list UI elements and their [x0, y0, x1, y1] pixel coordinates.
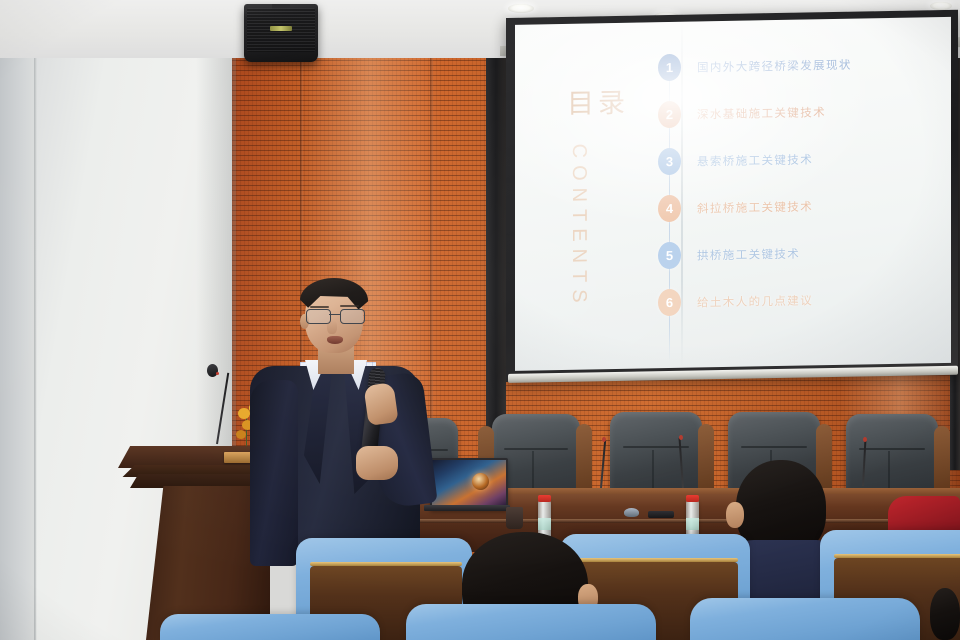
laptop-screen	[430, 458, 508, 510]
projection-screen: 目录 CONTENTS 1 国内外大跨径桥梁发展现状 2 深水基础施工关键技术 …	[506, 10, 958, 382]
screen-panel-seam	[681, 22, 683, 368]
toc-number-badge: 1	[658, 54, 681, 81]
list-item: 4 斜拉桥施工关键技术	[651, 180, 941, 232]
mobile-phone	[648, 511, 674, 518]
table-of-contents: 1 国内外大跨径桥梁发展现状 2 深水基础施工关键技术 3 悬索桥施工关键技术 …	[651, 39, 941, 326]
wall-column	[0, 0, 36, 640]
table-microphone-head	[863, 437, 867, 442]
presenter-mouth	[327, 336, 343, 344]
list-item: 1 国内外大跨径桥梁发展现状	[651, 39, 941, 91]
wall-speaker-icon	[244, 4, 318, 62]
toc-item-label: 深水基础施工关键技术	[697, 104, 826, 122]
dais-table-trim	[372, 519, 960, 523]
ceiling-downlight	[930, 2, 952, 10]
coffee-cup	[506, 507, 523, 529]
toc-number-badge: 2	[658, 101, 681, 128]
audience-head	[930, 588, 960, 640]
toc-item-label: 悬索桥施工关键技术	[697, 151, 813, 169]
presenter-hand-lower	[356, 446, 398, 480]
projection-screen-surface: 目录 CONTENTS 1 国内外大跨径桥梁发展现状 2 深水基础施工关键技术 …	[515, 17, 951, 371]
audience-seat-front	[406, 604, 656, 640]
executive-chair	[610, 412, 702, 498]
chair-armrest	[698, 424, 714, 496]
presenter-nose	[327, 320, 337, 334]
bottle-label	[686, 518, 699, 530]
bottle-cap	[538, 495, 551, 502]
list-item: 3 悬索桥施工关键技术	[651, 133, 941, 185]
seat-brass-trim	[834, 554, 960, 558]
toc-number-badge: 3	[658, 148, 681, 175]
podium-microphone-head	[207, 364, 218, 377]
eyeglass-bridge	[329, 314, 340, 315]
table-microphone-head	[679, 435, 683, 440]
audience-seat-front	[160, 614, 380, 640]
table-microphone-head	[602, 437, 606, 442]
list-item: 6 给土木人的几点建议	[651, 274, 941, 326]
bottle-cap	[686, 495, 699, 502]
presenter-eyebrow	[340, 305, 359, 307]
podium-microphone-indicator	[216, 372, 219, 375]
toc-item-label: 斜拉桥施工关键技术	[697, 198, 813, 216]
audience-ear	[726, 502, 744, 528]
wall-column-seam	[34, 0, 37, 640]
bottle-label	[538, 518, 551, 530]
chair-armrest	[934, 426, 950, 496]
list-item: 2 深水基础施工关键技术	[651, 86, 941, 138]
audience-seat-front	[690, 598, 920, 640]
ceiling-downlight	[508, 4, 534, 13]
computer-mouse	[624, 508, 639, 517]
presentation-slide: 目录 CONTENTS 1 国内外大跨径桥梁发展现状 2 深水基础施工关键技术 …	[515, 17, 951, 371]
toc-number-badge: 5	[658, 242, 681, 269]
slide-title-cn: 目录	[567, 81, 629, 121]
eyeglass-lens-right	[340, 309, 365, 324]
slide-title-en: CONTENTS	[567, 143, 590, 309]
laptop-wallpaper-orb	[472, 473, 489, 490]
toc-number-badge: 6	[658, 289, 681, 316]
podium-neck	[130, 474, 270, 488]
chair-armrest	[576, 424, 592, 496]
speaker-brand-badge	[270, 26, 292, 31]
toc-item-label: 国内外大跨径桥梁发展现状	[697, 56, 852, 75]
toc-item-label: 给土木人的几点建议	[697, 292, 813, 310]
toc-number-badge: 4	[658, 195, 681, 222]
presenter-arm-left	[250, 380, 298, 566]
auditorium-presentation-scene: 目录 CONTENTS 1 国内外大跨径桥梁发展现状 2 深水基础施工关键技术 …	[0, 0, 960, 640]
laptop-base	[424, 505, 510, 511]
seat-brass-trim	[576, 558, 738, 562]
executive-chair	[846, 414, 938, 498]
presenter-eyebrow	[310, 306, 329, 308]
seat-brass-trim	[310, 562, 462, 566]
list-item: 5 拱桥施工关键技术	[651, 227, 941, 279]
toc-item-label: 拱桥施工关键技术	[697, 245, 800, 263]
